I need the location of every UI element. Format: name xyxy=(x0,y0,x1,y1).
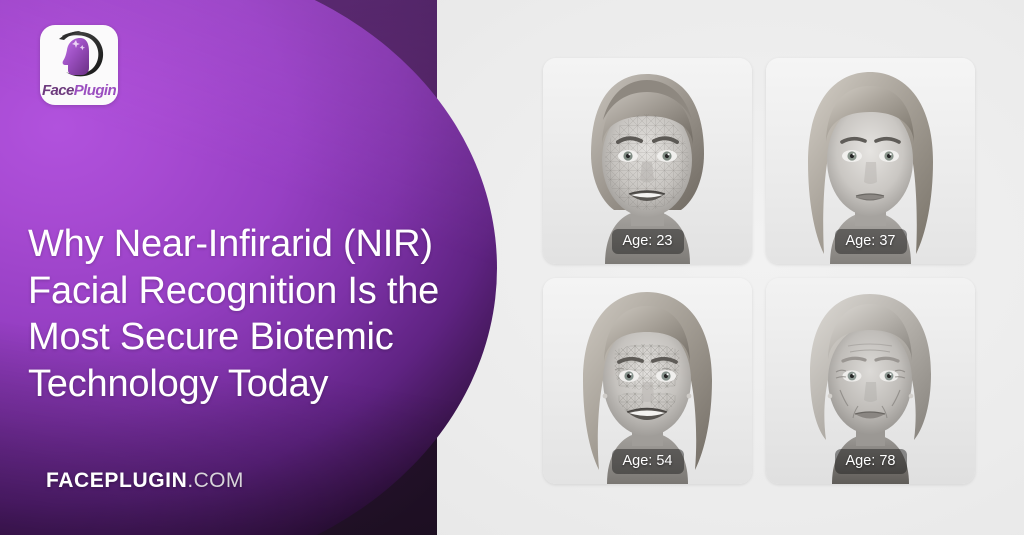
banner-root: FacePlugin Why Near-Infirarid (NIR) Faci… xyxy=(0,0,1024,535)
page-title: Why Near-Infirarid (NIR) Facial Recognit… xyxy=(28,221,448,406)
age-badge: Age: 78 xyxy=(835,449,907,474)
brand-name: FACEPLUGIN xyxy=(46,469,187,492)
face-silhouette-icon xyxy=(40,29,118,83)
logo-wordmark: FacePlugin xyxy=(40,83,118,98)
logo-word-plugin: Plugin xyxy=(74,82,116,99)
face-card[interactable]: Age: 54 xyxy=(543,278,752,484)
age-badge: Age: 23 xyxy=(612,229,684,254)
face-grid: Age: 23 xyxy=(543,58,975,491)
age-badge: Age: 37 xyxy=(835,229,907,254)
brand-tld: .COM xyxy=(187,469,243,492)
face-card[interactable]: Age: 78 xyxy=(766,278,975,484)
age-badge: Age: 54 xyxy=(612,449,684,474)
face-card[interactable]: Age: 37 xyxy=(766,58,975,264)
logo-word-face: Face xyxy=(42,82,74,99)
faceplugin-logo[interactable]: FacePlugin xyxy=(40,25,118,105)
brand-footer[interactable]: FACEPLUGIN.COM xyxy=(46,469,244,493)
face-card[interactable]: Age: 23 xyxy=(543,58,752,264)
